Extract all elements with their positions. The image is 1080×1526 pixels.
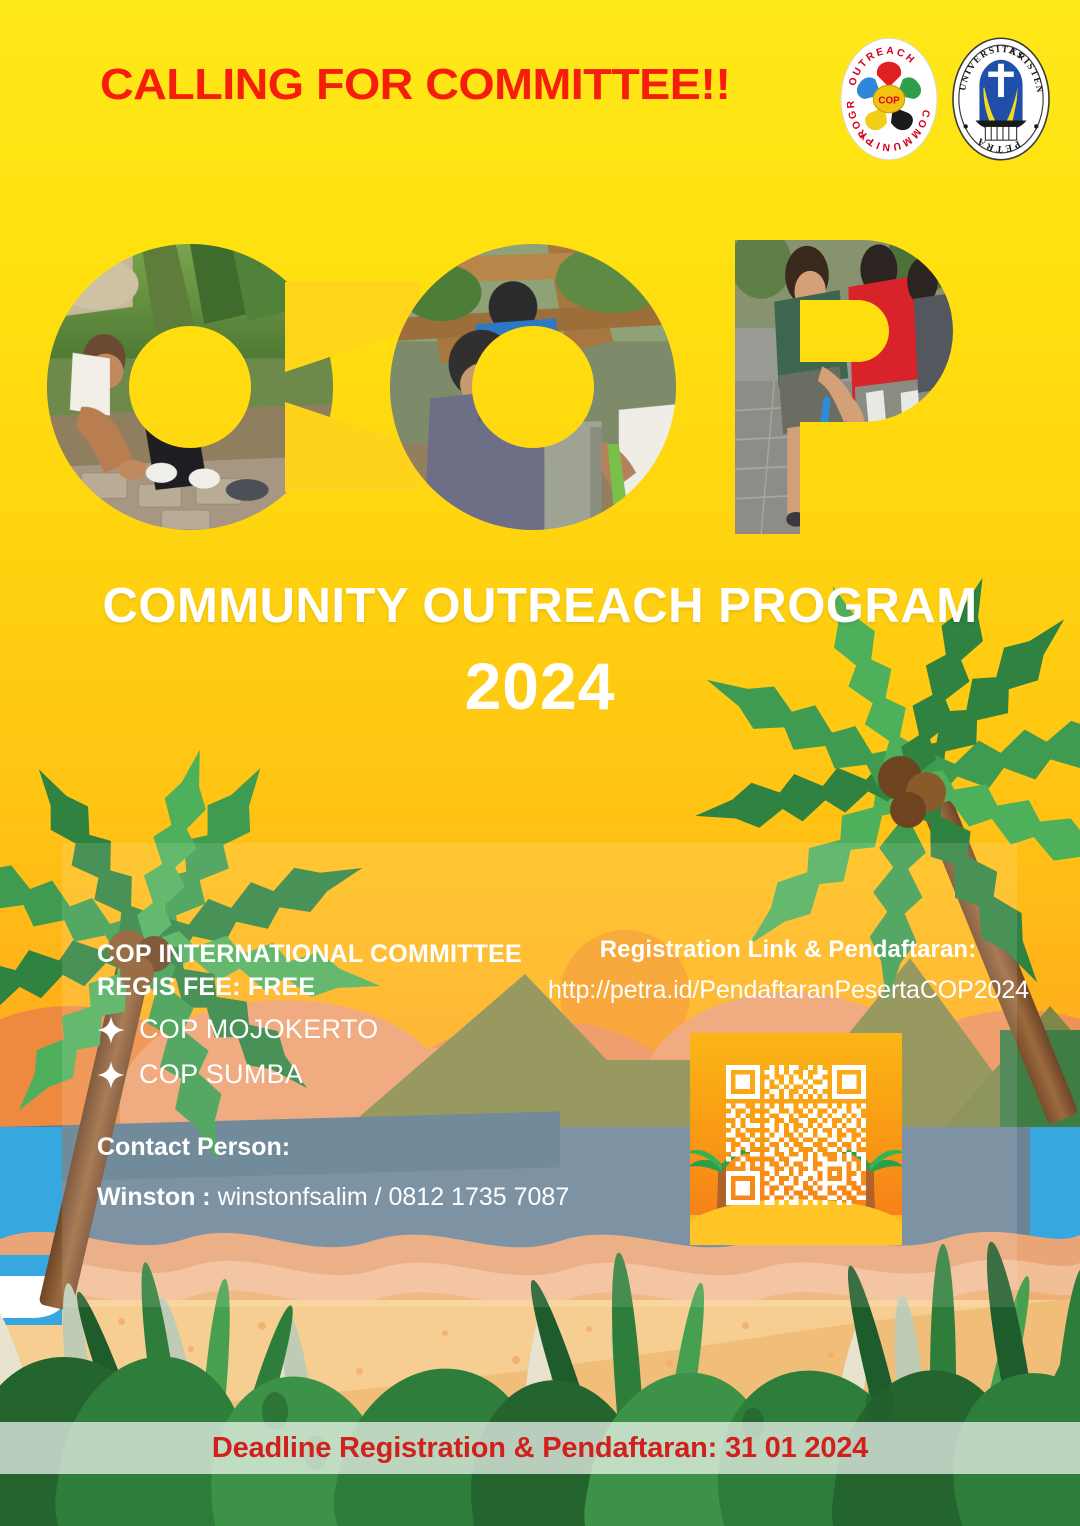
svg-text:COP: COP (878, 95, 900, 106)
list-item: COP MOJOKERTO (97, 1014, 617, 1045)
qr-code-card[interactable] (690, 1033, 902, 1245)
registration-block: Registration Link & Pendaftaran: http://… (548, 936, 1028, 1005)
contact-line: Winston : winstonfsalim / 0812 1735 7087 (97, 1183, 569, 1212)
list-item-label: COP MOJOKERTO (139, 1014, 378, 1045)
sparkle-icon (97, 1061, 125, 1089)
deadline-text: Deadline Registration & Pendaftaran: 31 … (0, 1432, 1080, 1465)
cop-letters (0, 222, 1080, 552)
registration-title: Registration Link & Pendaftaran: (548, 936, 1028, 964)
contact-block: Contact Person: Winston : winstonfsalim … (97, 1133, 569, 1212)
petra-logo-icon: UNIVERSITAS KRISTEN PETRA (952, 36, 1050, 162)
letter-o-mask (390, 244, 676, 530)
poster-root: CALLING FOR COMMITTEE!! OUTREACH COMMUNI… (0, 0, 1080, 1526)
coconut (890, 792, 926, 828)
program-year: 2024 (0, 648, 1080, 724)
contact-title: Contact Person: (97, 1133, 569, 1162)
committee-info: COP INTERNATIONAL COMMITTEE REGIS FEE: F… (97, 938, 617, 1104)
committee-bullet-list: COP MOJOKERTO COP SUMBA (97, 1014, 617, 1090)
committee-heading-line2: REGIS FEE: FREE (97, 971, 617, 1004)
registration-url[interactable]: http://petra.id/PendaftaranPesertaCOP202… (548, 976, 1028, 1005)
cop-letters-svg (0, 222, 1080, 552)
committee-heading-line1: COP INTERNATIONAL COMMITTEE (97, 938, 617, 971)
list-item-label: COP SUMBA (139, 1059, 303, 1090)
list-item: COP SUMBA (97, 1059, 617, 1090)
logo-group: OUTREACH COMMUNITY PROGRAM COP (840, 36, 1050, 162)
contact-phone: 0812 1735 7087 (389, 1183, 570, 1211)
sparkle-icon (97, 1016, 125, 1044)
page-title: CALLING FOR COMMITTEE!! (100, 60, 730, 110)
leaf-hole (866, 1382, 894, 1422)
letter-p-mask (735, 240, 953, 534)
qr-code[interactable] (726, 1065, 866, 1205)
contact-handle: winstonfsalim / (218, 1183, 382, 1211)
cop-logo-icon: OUTREACH COMMUNITY PROGRAM COP (840, 36, 938, 162)
contact-name: Winston : (97, 1183, 211, 1211)
program-subtitle: COMMUNITY OUTREACH PROGRAM (0, 578, 1080, 634)
